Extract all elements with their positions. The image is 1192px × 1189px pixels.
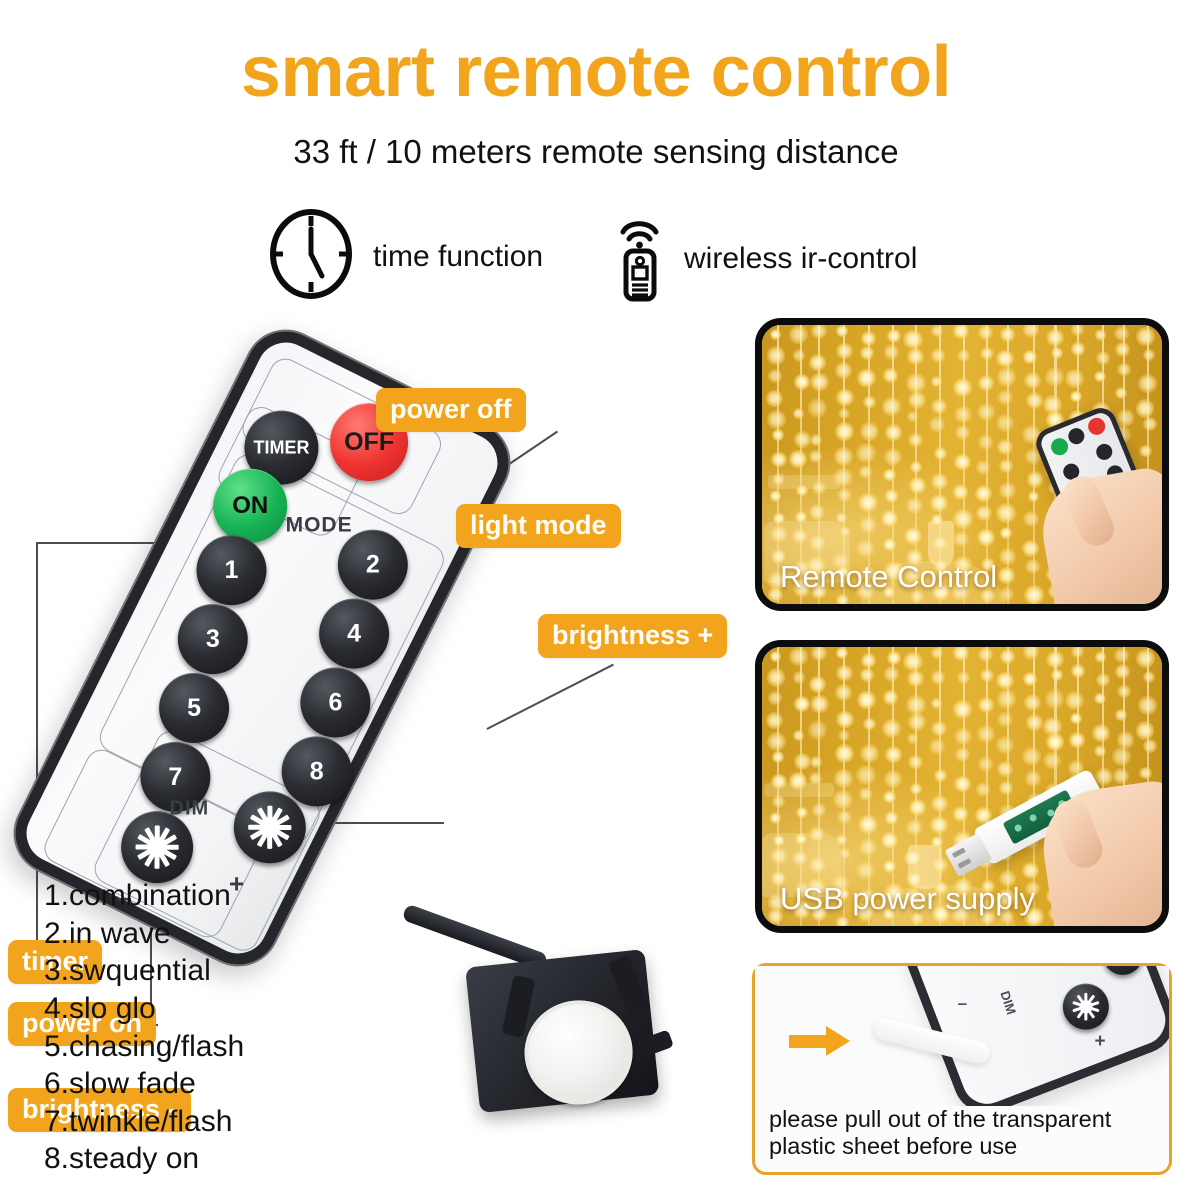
led-bead bbox=[978, 325, 993, 340]
led-bead bbox=[789, 450, 807, 468]
led-bead bbox=[773, 835, 784, 846]
led-bead bbox=[953, 509, 973, 529]
led-bead bbox=[1070, 713, 1082, 725]
led-bead bbox=[836, 512, 848, 524]
led-bead bbox=[978, 375, 994, 391]
list-item: 5.chasing/flash bbox=[44, 1028, 244, 1066]
led-bead bbox=[1143, 349, 1155, 361]
led-bead bbox=[954, 728, 972, 746]
led-bead bbox=[833, 790, 852, 809]
led-bead bbox=[1051, 347, 1063, 359]
led-bead bbox=[907, 348, 924, 365]
led-bead bbox=[883, 860, 896, 873]
led-bead bbox=[857, 369, 875, 387]
panel-caption: please pull out of the transparent plast… bbox=[769, 1106, 1165, 1161]
led-bead bbox=[1139, 445, 1151, 457]
led-bead bbox=[768, 691, 782, 705]
led-bead bbox=[837, 488, 851, 502]
led-bead bbox=[836, 594, 849, 607]
caption-line-1: please pull out of the transparent bbox=[769, 1106, 1165, 1133]
led-bead bbox=[953, 645, 969, 661]
led-bead bbox=[772, 429, 784, 441]
led-bead bbox=[771, 452, 786, 467]
led-bead bbox=[931, 647, 943, 659]
led-bead bbox=[1043, 752, 1060, 769]
led-bead bbox=[934, 447, 947, 460]
list-item: 1.combination bbox=[44, 877, 244, 915]
led-bead bbox=[908, 433, 922, 447]
led-bead bbox=[770, 651, 781, 662]
led-bead bbox=[1115, 709, 1127, 721]
led-bead bbox=[931, 795, 948, 812]
led-bead bbox=[1023, 321, 1039, 337]
led-bead bbox=[908, 713, 926, 731]
led-bead bbox=[1112, 747, 1131, 766]
led-bead bbox=[834, 447, 853, 466]
led-bead bbox=[1143, 671, 1155, 683]
led-bead bbox=[884, 770, 902, 788]
led-bead bbox=[836, 343, 852, 359]
panel-plastic-sheet-notice: DIM bbox=[752, 963, 1172, 1175]
led-bead bbox=[997, 439, 1013, 455]
led-bead bbox=[1025, 770, 1041, 786]
leader-brightness-plus bbox=[486, 664, 614, 731]
led-bead bbox=[1023, 672, 1037, 686]
led-bead bbox=[906, 819, 923, 836]
led-bead bbox=[809, 450, 822, 463]
list-item: 2.in wave bbox=[44, 915, 244, 953]
led-bead bbox=[932, 857, 948, 873]
caption-line-2: plastic sheet before use bbox=[769, 1133, 1165, 1160]
led-bead bbox=[884, 666, 899, 681]
led-bead bbox=[1115, 342, 1130, 357]
brightness-up-button[interactable] bbox=[234, 791, 306, 863]
feature-time-function: time function bbox=[265, 208, 543, 305]
coin-battery bbox=[519, 995, 637, 1110]
led-bead bbox=[1070, 391, 1082, 403]
mode-button-3[interactable]: 3 bbox=[178, 604, 248, 674]
feature-wireless-ir: wireless ir-control bbox=[612, 208, 917, 309]
led-bead bbox=[860, 422, 879, 441]
led-bead bbox=[1095, 329, 1107, 341]
mode-button-label: 8 bbox=[310, 757, 324, 786]
led-bead bbox=[809, 504, 825, 520]
led-bead bbox=[903, 652, 922, 671]
led-bead bbox=[839, 526, 851, 538]
led-bead bbox=[770, 847, 787, 864]
led-bead bbox=[771, 774, 786, 789]
led-bead bbox=[770, 329, 781, 340]
mode-button-2[interactable]: 2 bbox=[338, 530, 408, 600]
led-bead bbox=[836, 665, 852, 681]
led-bead bbox=[907, 670, 924, 687]
led-bead bbox=[998, 567, 1015, 584]
led-bead bbox=[1027, 471, 1044, 488]
led-bead bbox=[1094, 745, 1106, 757]
led-bead bbox=[910, 461, 922, 473]
led-bead bbox=[772, 751, 784, 763]
led-bead bbox=[793, 671, 806, 684]
led-bead bbox=[1071, 342, 1085, 356]
led-bead bbox=[833, 468, 852, 487]
led-bead bbox=[883, 690, 898, 705]
led-bead bbox=[904, 849, 922, 867]
led-bead bbox=[976, 460, 991, 475]
led-bead bbox=[881, 510, 898, 527]
led-bead bbox=[789, 325, 808, 344]
led-bead bbox=[1071, 664, 1085, 678]
led-bead bbox=[1114, 648, 1129, 663]
led-bead bbox=[1117, 363, 1131, 377]
mode-button-1[interactable]: 1 bbox=[197, 535, 267, 605]
mode-button-8[interactable]: 8 bbox=[282, 736, 352, 806]
led-bead bbox=[770, 490, 782, 502]
led-bead bbox=[1000, 527, 1012, 539]
led-bead bbox=[930, 816, 948, 834]
led-bead bbox=[1045, 367, 1064, 386]
led-bead bbox=[909, 799, 926, 816]
led-bead bbox=[1046, 733, 1064, 751]
mode-button-6[interactable]: 6 bbox=[300, 667, 370, 737]
led-bead bbox=[885, 424, 902, 441]
led-bead bbox=[1136, 327, 1155, 346]
led-bead bbox=[1026, 392, 1043, 409]
battery-tray bbox=[446, 917, 678, 1120]
arrow-right-icon bbox=[789, 1026, 851, 1056]
led-bead bbox=[953, 806, 969, 822]
led-bead bbox=[792, 528, 808, 544]
led-bead bbox=[811, 323, 827, 339]
led-bead bbox=[978, 647, 993, 662]
led-bead bbox=[768, 369, 782, 383]
led-bead bbox=[861, 653, 876, 668]
led-bead bbox=[810, 695, 829, 714]
led-bead bbox=[996, 672, 1014, 690]
led-bead bbox=[858, 815, 878, 835]
led-bead bbox=[766, 712, 783, 729]
plus-symbol: + bbox=[1094, 1031, 1105, 1053]
led-bead bbox=[976, 782, 991, 797]
led-bead bbox=[1094, 371, 1106, 383]
led-bead bbox=[836, 711, 854, 729]
infographic-root: smart remote control 33 ft / 10 meters r… bbox=[0, 0, 1192, 1189]
panel-caption: Remote Control bbox=[780, 559, 997, 595]
led-bead bbox=[930, 494, 948, 512]
led-bead bbox=[931, 670, 946, 685]
led-bead bbox=[792, 850, 808, 866]
panel-caption: USB power supply bbox=[780, 881, 1035, 917]
led-bead bbox=[1022, 862, 1039, 879]
feature-label: time function bbox=[373, 240, 543, 274]
led-bead bbox=[1138, 696, 1157, 715]
led-bead bbox=[1092, 724, 1110, 742]
led-bead bbox=[1139, 767, 1151, 779]
led-bead bbox=[859, 787, 872, 800]
led-bead bbox=[934, 769, 947, 782]
callout-light-mode: light mode bbox=[456, 504, 621, 548]
led-bead bbox=[835, 362, 852, 379]
led-bead bbox=[887, 651, 901, 665]
mode-button-label: 4 bbox=[347, 619, 361, 648]
led-bead bbox=[809, 676, 826, 693]
led-bead bbox=[954, 776, 970, 792]
led-bead bbox=[770, 525, 787, 542]
led-bead bbox=[1117, 685, 1131, 699]
led-bead bbox=[909, 477, 926, 494]
led-bead bbox=[980, 347, 993, 360]
led-bead bbox=[882, 397, 901, 416]
led-bead bbox=[883, 791, 896, 804]
led-bead bbox=[856, 765, 876, 785]
led-bead bbox=[809, 856, 827, 874]
led-bead bbox=[1045, 689, 1064, 708]
led-bead bbox=[980, 669, 993, 682]
led-bead bbox=[834, 769, 853, 788]
led-bead bbox=[884, 448, 902, 466]
led-bead bbox=[1065, 369, 1084, 388]
led-bead bbox=[996, 503, 1016, 523]
mode-button-label: 6 bbox=[328, 688, 342, 717]
led-bead bbox=[1023, 350, 1037, 364]
list-item: 4.slo glo bbox=[44, 990, 244, 1028]
led-bead bbox=[794, 753, 812, 771]
led-bead bbox=[929, 738, 946, 755]
led-bead bbox=[793, 349, 806, 362]
led-bead bbox=[1096, 673, 1110, 687]
led-bead bbox=[997, 712, 1013, 728]
led-bead bbox=[767, 668, 785, 686]
led-bead bbox=[796, 807, 808, 819]
list-item: 3.swquential bbox=[44, 952, 244, 990]
led-bead bbox=[929, 416, 946, 433]
light-mode-list: 1.combination 2.in wave 3.swquential 4.s… bbox=[44, 877, 244, 1178]
list-item: 6.slow fade bbox=[44, 1065, 244, 1103]
led-bead bbox=[954, 406, 972, 424]
led-bead bbox=[811, 645, 827, 661]
led-bead bbox=[883, 538, 896, 551]
led-bead bbox=[931, 473, 948, 490]
mode-button bbox=[1103, 966, 1143, 975]
led-bead bbox=[996, 350, 1014, 368]
led-bead bbox=[1025, 559, 1040, 574]
led-bead bbox=[883, 469, 896, 482]
led-bead bbox=[793, 730, 804, 741]
led-bead bbox=[910, 783, 922, 795]
tray-plate bbox=[465, 949, 659, 1113]
led-bead bbox=[1094, 693, 1106, 705]
led-bead bbox=[767, 346, 785, 364]
led-bead bbox=[1115, 664, 1130, 679]
led-bead bbox=[772, 795, 785, 808]
led-bead bbox=[975, 485, 992, 502]
panel-remote-control: Remote Control bbox=[755, 318, 1169, 611]
led-bead bbox=[835, 422, 854, 441]
led-bead bbox=[773, 513, 784, 524]
led-bead bbox=[903, 330, 922, 349]
led-bead bbox=[808, 398, 828, 418]
led-bead bbox=[996, 414, 1014, 432]
led-bead bbox=[856, 443, 876, 463]
led-bead bbox=[997, 761, 1013, 777]
leader-timer-vertical bbox=[36, 542, 38, 980]
led-bead bbox=[997, 689, 1016, 708]
led-bead bbox=[1095, 651, 1107, 663]
led-bead bbox=[836, 834, 848, 846]
led-bead bbox=[794, 374, 810, 390]
led-bead bbox=[999, 548, 1016, 565]
led-bead bbox=[838, 730, 849, 741]
led-bead bbox=[836, 647, 848, 659]
led-bead bbox=[999, 781, 1013, 795]
led-bead bbox=[953, 531, 969, 547]
led-bead bbox=[881, 832, 898, 849]
led-bead bbox=[796, 485, 808, 497]
led-bead bbox=[810, 434, 822, 446]
led-bead bbox=[885, 746, 902, 763]
led-bead bbox=[976, 505, 992, 521]
page-subtitle: 33 ft / 10 meters remote sensing distanc… bbox=[0, 134, 1192, 170]
led-bead bbox=[885, 489, 899, 503]
led-bead bbox=[884, 344, 899, 359]
led-bead bbox=[809, 772, 822, 785]
led-bead bbox=[794, 696, 810, 712]
led-bead bbox=[1000, 327, 1015, 342]
remote-signal-icon bbox=[612, 208, 668, 309]
led-bead bbox=[957, 349, 970, 362]
led-bead bbox=[999, 587, 1014, 602]
led-bead bbox=[839, 848, 851, 860]
led-bead bbox=[932, 535, 948, 551]
dim-printed-label: DIM bbox=[997, 989, 1019, 1016]
mini-on-button bbox=[1049, 436, 1071, 458]
led-bead bbox=[1096, 351, 1110, 365]
led-bead bbox=[808, 720, 828, 740]
feature-label: wireless ir-control bbox=[684, 242, 917, 276]
led-bead bbox=[809, 354, 826, 371]
led-bead bbox=[859, 465, 872, 478]
led-bead bbox=[907, 411, 918, 422]
led-bead bbox=[999, 482, 1016, 499]
list-item: 7.twinkle/flash bbox=[44, 1103, 244, 1141]
led-bead bbox=[953, 378, 972, 397]
led-bead bbox=[997, 390, 1013, 406]
led-bead bbox=[953, 484, 969, 500]
led-bead bbox=[766, 390, 783, 407]
led-bead bbox=[836, 325, 848, 337]
led-bead bbox=[1117, 409, 1135, 427]
led-bead bbox=[931, 348, 946, 363]
led-bead bbox=[1022, 747, 1041, 766]
led-bead bbox=[997, 367, 1016, 386]
mode-button-4[interactable]: 4 bbox=[319, 599, 389, 669]
led-bead bbox=[789, 647, 808, 666]
led-bead bbox=[954, 454, 970, 470]
led-bead bbox=[836, 916, 849, 929]
sun-icon bbox=[136, 826, 179, 869]
led-bead bbox=[931, 399, 946, 414]
led-bead bbox=[955, 747, 970, 762]
on-button-label: ON bbox=[232, 492, 268, 520]
led-bead bbox=[1071, 323, 1083, 335]
led-bead bbox=[837, 810, 851, 824]
led-bead bbox=[1065, 691, 1084, 710]
led-bead bbox=[885, 811, 899, 825]
led-bead bbox=[809, 826, 825, 842]
led-bead bbox=[931, 721, 946, 736]
led-bead bbox=[1138, 374, 1157, 393]
led-bead bbox=[838, 408, 849, 419]
led-bead bbox=[999, 459, 1013, 473]
led-bead bbox=[861, 331, 876, 346]
led-bead bbox=[1046, 329, 1063, 346]
mode-button-label: 5 bbox=[187, 694, 201, 723]
led-bead bbox=[1069, 732, 1085, 748]
led-bead bbox=[1115, 387, 1127, 399]
list-item: 8.steady on bbox=[44, 1140, 244, 1178]
callout-power-off: power off bbox=[376, 388, 526, 432]
led-bead bbox=[1143, 739, 1157, 753]
brightness-down-button[interactable] bbox=[121, 811, 193, 883]
led-bead bbox=[767, 732, 785, 750]
mode-button-label: 7 bbox=[168, 762, 182, 791]
led-bead bbox=[856, 539, 876, 559]
led-bead bbox=[1114, 326, 1129, 341]
led-bead bbox=[908, 755, 922, 769]
led-bead bbox=[789, 772, 807, 790]
led-bead bbox=[978, 697, 994, 713]
led-bead bbox=[908, 391, 926, 409]
led-bead bbox=[1023, 511, 1039, 527]
led-bead bbox=[1026, 714, 1043, 731]
led-bead bbox=[977, 529, 994, 546]
led-bead bbox=[860, 346, 874, 360]
led-bead bbox=[1046, 651, 1063, 668]
led-bead bbox=[1143, 417, 1157, 431]
led-bead bbox=[1000, 649, 1015, 664]
led-bead bbox=[955, 425, 970, 440]
callout-brightness-plus: brightness + bbox=[538, 614, 727, 658]
plastic-sheet-photo: DIM bbox=[755, 966, 1169, 1106]
sun-icon bbox=[1072, 993, 1100, 1021]
led-bead bbox=[770, 812, 782, 824]
mode-printed-label: MODE bbox=[286, 514, 353, 538]
mini-mode-button bbox=[1094, 441, 1115, 462]
led-bead bbox=[907, 733, 918, 744]
led-bead bbox=[1051, 669, 1063, 681]
led-bead bbox=[810, 373, 829, 392]
on-button[interactable]: ON bbox=[213, 469, 287, 543]
led-bead bbox=[1113, 768, 1129, 784]
sun-icon bbox=[248, 806, 291, 849]
led-bead bbox=[793, 408, 804, 419]
led-bead bbox=[931, 325, 943, 337]
led-bead bbox=[1028, 491, 1039, 502]
led-bead bbox=[863, 718, 875, 730]
led-bead bbox=[858, 493, 878, 513]
mini-off-button bbox=[1086, 415, 1108, 437]
mode-button-label: 3 bbox=[206, 625, 220, 654]
mode-button-5[interactable]: 5 bbox=[159, 673, 229, 743]
led-bead bbox=[863, 396, 875, 408]
mode-button-label: 1 bbox=[225, 556, 239, 585]
led-bead bbox=[772, 473, 785, 486]
led-bead bbox=[860, 744, 879, 763]
led-bead bbox=[856, 861, 876, 881]
led-bead bbox=[812, 803, 826, 817]
led-bead bbox=[978, 434, 993, 449]
led-bead bbox=[1136, 399, 1155, 418]
led-bead bbox=[1117, 731, 1135, 749]
